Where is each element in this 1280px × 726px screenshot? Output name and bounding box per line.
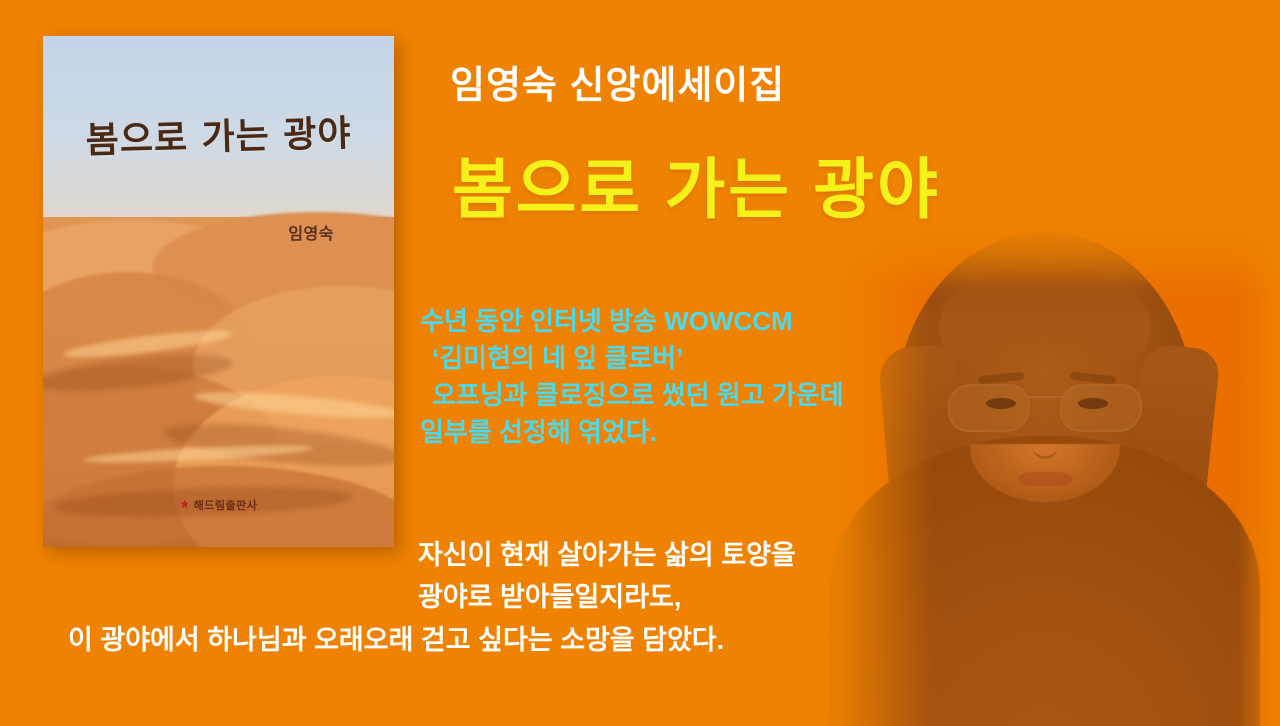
closing-final-line: 이 광야에서 하나님과 오래오래 걷고 싶다는 소망을 담았다. (68, 618, 724, 657)
description-line: ‘김미현의 네 잎 클로버’ (420, 340, 844, 377)
eye-right (1078, 398, 1108, 409)
torso (830, 436, 1260, 726)
photo-orange-tint (810, 226, 1280, 726)
book-cover: 봄으로 가는 광야 임영숙 해드림출판사 (43, 36, 394, 547)
eyebrow-right (1070, 372, 1117, 385)
glasses-bridge (1025, 396, 1065, 398)
publisher-logo-icon (180, 500, 190, 511)
face (947, 278, 1143, 530)
photo-edge-fade (810, 226, 1280, 726)
publisher-name: 해드림출판사 (194, 497, 258, 513)
mouth (1018, 472, 1072, 486)
author-portrait (810, 226, 1280, 726)
lens-right (1060, 384, 1142, 432)
description-line: 오프닝과 클로징으로 썼던 원고 가운데 (420, 377, 844, 414)
eyeglasses-icon (942, 384, 1148, 430)
hair-right-strand (1117, 343, 1221, 600)
collar (970, 444, 1120, 502)
book-promo-poster: 봄으로 가는 광야 임영숙 해드림출판사 임영숙 신앙에세이집 봄으로 가는 광… (0, 0, 1280, 726)
closing-line: 자신이 현재 살아가는 삶의 토양을 (418, 534, 796, 576)
closing-block: 자신이 현재 살아가는 삶의 토양을 광야로 받아들일지라도, (418, 534, 796, 618)
poster-headline: 임영숙 신앙에세이집 (450, 54, 785, 109)
cover-author: 임영숙 (288, 220, 334, 244)
hair-back (895, 232, 1195, 582)
neck (991, 484, 1099, 574)
nose (1032, 432, 1058, 459)
lens-left (948, 384, 1030, 432)
eyebrow-left (978, 372, 1025, 385)
description-block: 수년 동안 인터넷 방송 WOWCCM ‘김미현의 네 잎 클로버’ 오프닝과 … (420, 303, 844, 451)
description-line: 일부를 선정해 엮었다. (420, 414, 844, 451)
hair-fringe (939, 264, 1151, 374)
description-line: 수년 동안 인터넷 방송 WOWCCM (420, 303, 844, 340)
poster-main-title: 봄으로 가는 광야 (452, 136, 941, 232)
hair-left-strand (877, 343, 976, 599)
closing-line: 광야로 받아들일지라도, (418, 576, 796, 618)
eye-left (986, 398, 1016, 409)
cover-title: 봄으로 가는 광야 (43, 103, 394, 165)
portrait-figure (810, 226, 1280, 726)
cover-publisher: 해드림출판사 (43, 497, 394, 513)
